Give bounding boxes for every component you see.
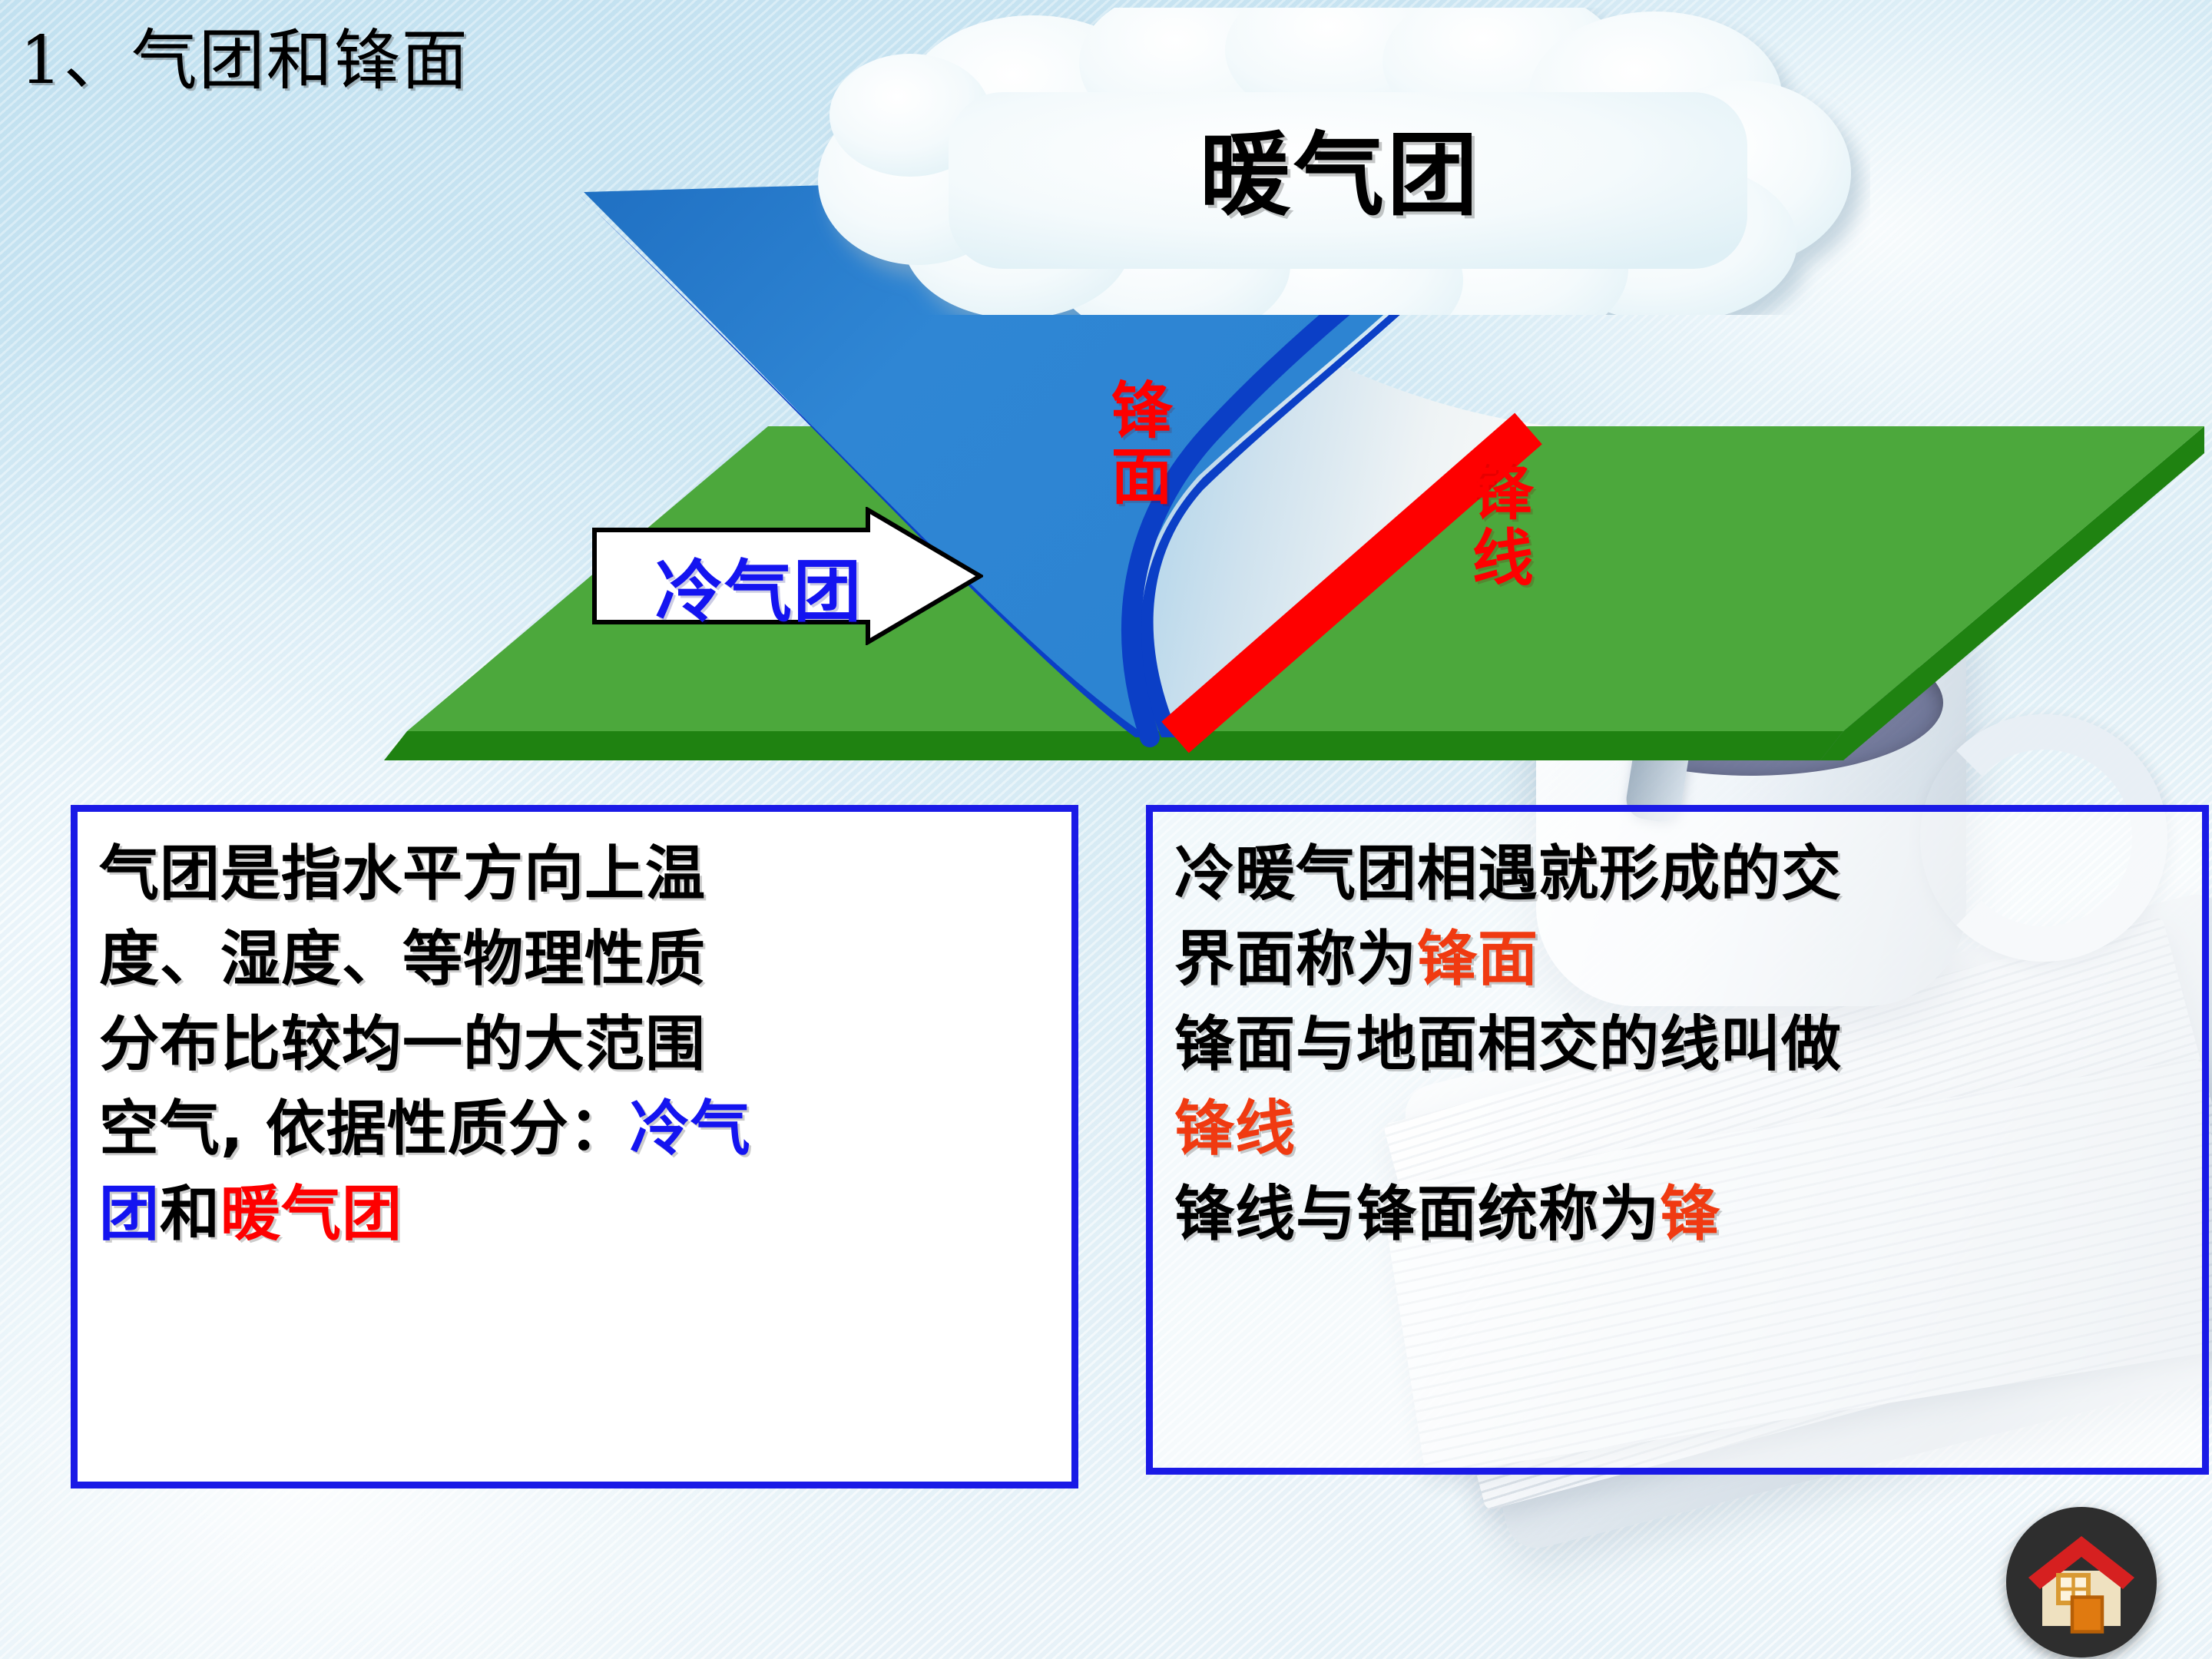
text-line: 锋线 xyxy=(1174,1087,2181,1172)
cold-air-mass-arrow: 冷气团 xyxy=(591,507,983,645)
text-line: 度、湿度、等物理性质 xyxy=(99,917,1050,1002)
text-line: 团和暖气团 xyxy=(99,1172,1050,1257)
text-run: 空气, 依据性质分： xyxy=(99,1094,630,1164)
warm-air-mass-cloud: 暖气团 xyxy=(810,8,1870,315)
text-run: 锋面与地面相交的线叫做 xyxy=(1174,1010,1842,1079)
text-run: 锋线与锋面统称为 xyxy=(1174,1180,1660,1249)
text-run-highlight-front-line: 锋线 xyxy=(1174,1094,1296,1164)
cold-air-mass-label: 冷气团 xyxy=(621,538,897,635)
text-line: 界面称为锋面 xyxy=(1174,917,2181,1002)
text-run: 冷暖气团相遇就形成的交 xyxy=(1174,839,1842,909)
front-line-label: 锋线 xyxy=(1463,459,1532,591)
home-icon xyxy=(2024,1525,2139,1640)
air-mass-definition-box: 气团是指水平方向上温 度、湿度、等物理性质 分布比较均一的大范围 空气, 依据性… xyxy=(71,805,1078,1488)
text-line: 空气, 依据性质分：冷气 xyxy=(99,1087,1050,1172)
text-line: 锋线与锋面统称为锋 xyxy=(1174,1172,2181,1257)
text-run-highlight-warm: 暖气团 xyxy=(220,1180,402,1249)
text-run: 气团是指水平方向上温 xyxy=(99,839,706,909)
frontal-surface-label: 锋面 xyxy=(1102,378,1171,510)
home-button[interactable] xyxy=(2006,1507,2157,1657)
slide-canvas: 1、气团和锋面 xyxy=(0,0,2212,1659)
ground-plane-front-edge xyxy=(384,731,1843,760)
text-run-highlight-front: 锋 xyxy=(1660,1180,1720,1249)
warm-air-mass-label: 暖气团 xyxy=(810,101,1870,233)
text-run: 分布比较均一的大范围 xyxy=(99,1010,706,1079)
text-line: 分布比较均一的大范围 xyxy=(99,1002,1050,1088)
text-line: 气团是指水平方向上温 xyxy=(99,832,1050,917)
front-definition-box: 冷暖气团相遇就形成的交 界面称为锋面 锋面与地面相交的线叫做 锋线 锋线与锋面统… xyxy=(1146,805,2209,1475)
text-line: 锋面与地面相交的线叫做 xyxy=(1174,1002,2181,1088)
text-run-highlight-frontal-surface: 锋面 xyxy=(1417,925,1538,994)
text-run: 度、湿度、等物理性质 xyxy=(99,925,706,994)
text-run: 和 xyxy=(160,1180,220,1249)
text-run: 界面称为 xyxy=(1174,925,1417,994)
text-line: 冷暖气团相遇就形成的交 xyxy=(1174,832,2181,917)
text-run-highlight-cold: 冷气 xyxy=(630,1094,751,1164)
text-run-highlight-cold-cont: 团 xyxy=(99,1180,160,1249)
